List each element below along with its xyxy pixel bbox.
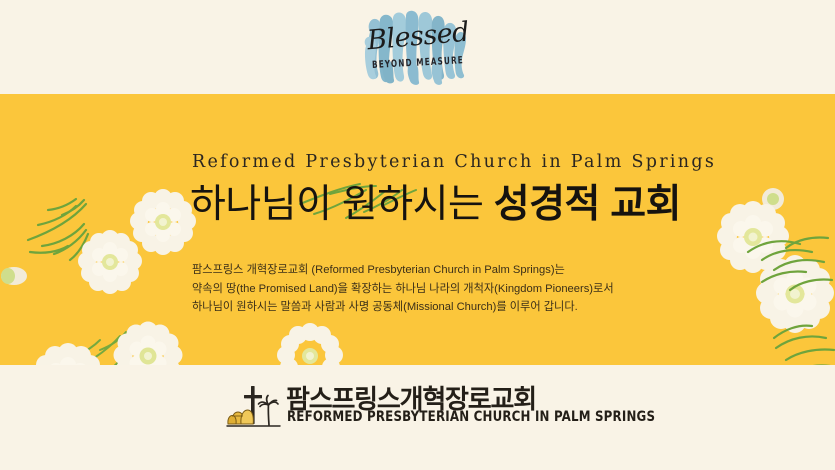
- banner-body-paragraph: 팜스프링스 개혁장로교회 (Reformed Presbyterian Chur…: [192, 261, 614, 317]
- church-banner-page: Blessed BEYOND MEASURE: [0, 0, 835, 470]
- banner-eyebrow: Reformed Presbyterian Church in Palm Spr…: [192, 152, 716, 172]
- top-logo-area: Blessed BEYOND MEASURE: [0, 0, 835, 94]
- rocks-icon: [228, 410, 253, 424]
- blessed-beyond-measure-logo: Blessed BEYOND MEASURE: [352, 6, 480, 88]
- banner-text-block: Reformed Presbyterian Church in Palm Spr…: [0, 94, 835, 365]
- church-logo[interactable]: 팜스프링스개혁장로교회 REFORMED PRESBYTERIAN CHURCH…: [226, 379, 556, 435]
- footer-logo-area: 팜스프링스개혁장로교회 REFORMED PRESBYTERIAN CHURCH…: [0, 365, 835, 470]
- banner-headline: 하나님이 원하시는 성경적 교회: [190, 183, 681, 227]
- body-line-2: 약속의 땅(the Promised Land)을 확장하는 하나님 나라의 개…: [192, 280, 614, 299]
- headline-regular-part: 하나님이 원하시는: [190, 183, 494, 226]
- cross-palm-rocks-emblem-icon: [226, 381, 282, 431]
- body-line-3: 하나님이 원하시는 말씀과 사람과 사명 공동체(Missional Churc…: [192, 298, 614, 317]
- headline-bold-part: 성경적 교회: [494, 183, 681, 226]
- palm-tree-icon: [259, 396, 279, 426]
- hero-banner: Reformed Presbyterian Church in Palm Spr…: [0, 94, 835, 365]
- logo-english-name: REFORMED PRESBYTERIAN CHURCH IN PALM SPR…: [287, 409, 655, 425]
- body-line-1: 팜스프링스 개혁장로교회 (Reformed Presbyterian Chur…: [192, 261, 614, 280]
